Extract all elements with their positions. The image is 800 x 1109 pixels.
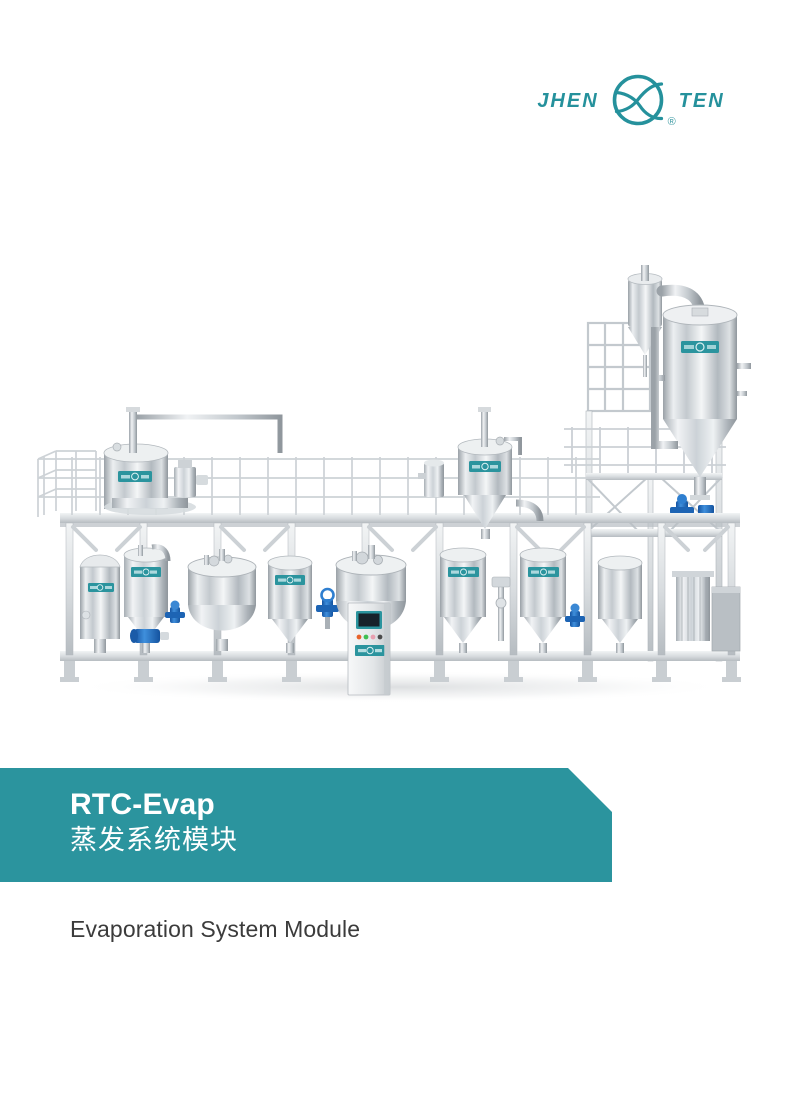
registered-trademark-icon: ®	[668, 117, 676, 128]
page-title-chinese: 蒸发系统模块	[70, 824, 238, 856]
title-banner-text-group: RTC-Evap 蒸发系统模块	[70, 788, 238, 856]
jhenten-circle-logo-icon: ®	[611, 73, 667, 129]
brand-word-left: JHEN	[537, 91, 598, 111]
brand-word-right: TEN	[679, 91, 725, 111]
page-title: RTC-Evap	[70, 788, 238, 822]
title-banner: RTC-Evap 蒸发系统模块	[0, 768, 612, 882]
brand-logo: JHEN ® TEN	[528, 72, 734, 130]
product-photo	[0, 215, 800, 715]
page-subtitle-english: Evaporation System Module	[70, 916, 360, 943]
